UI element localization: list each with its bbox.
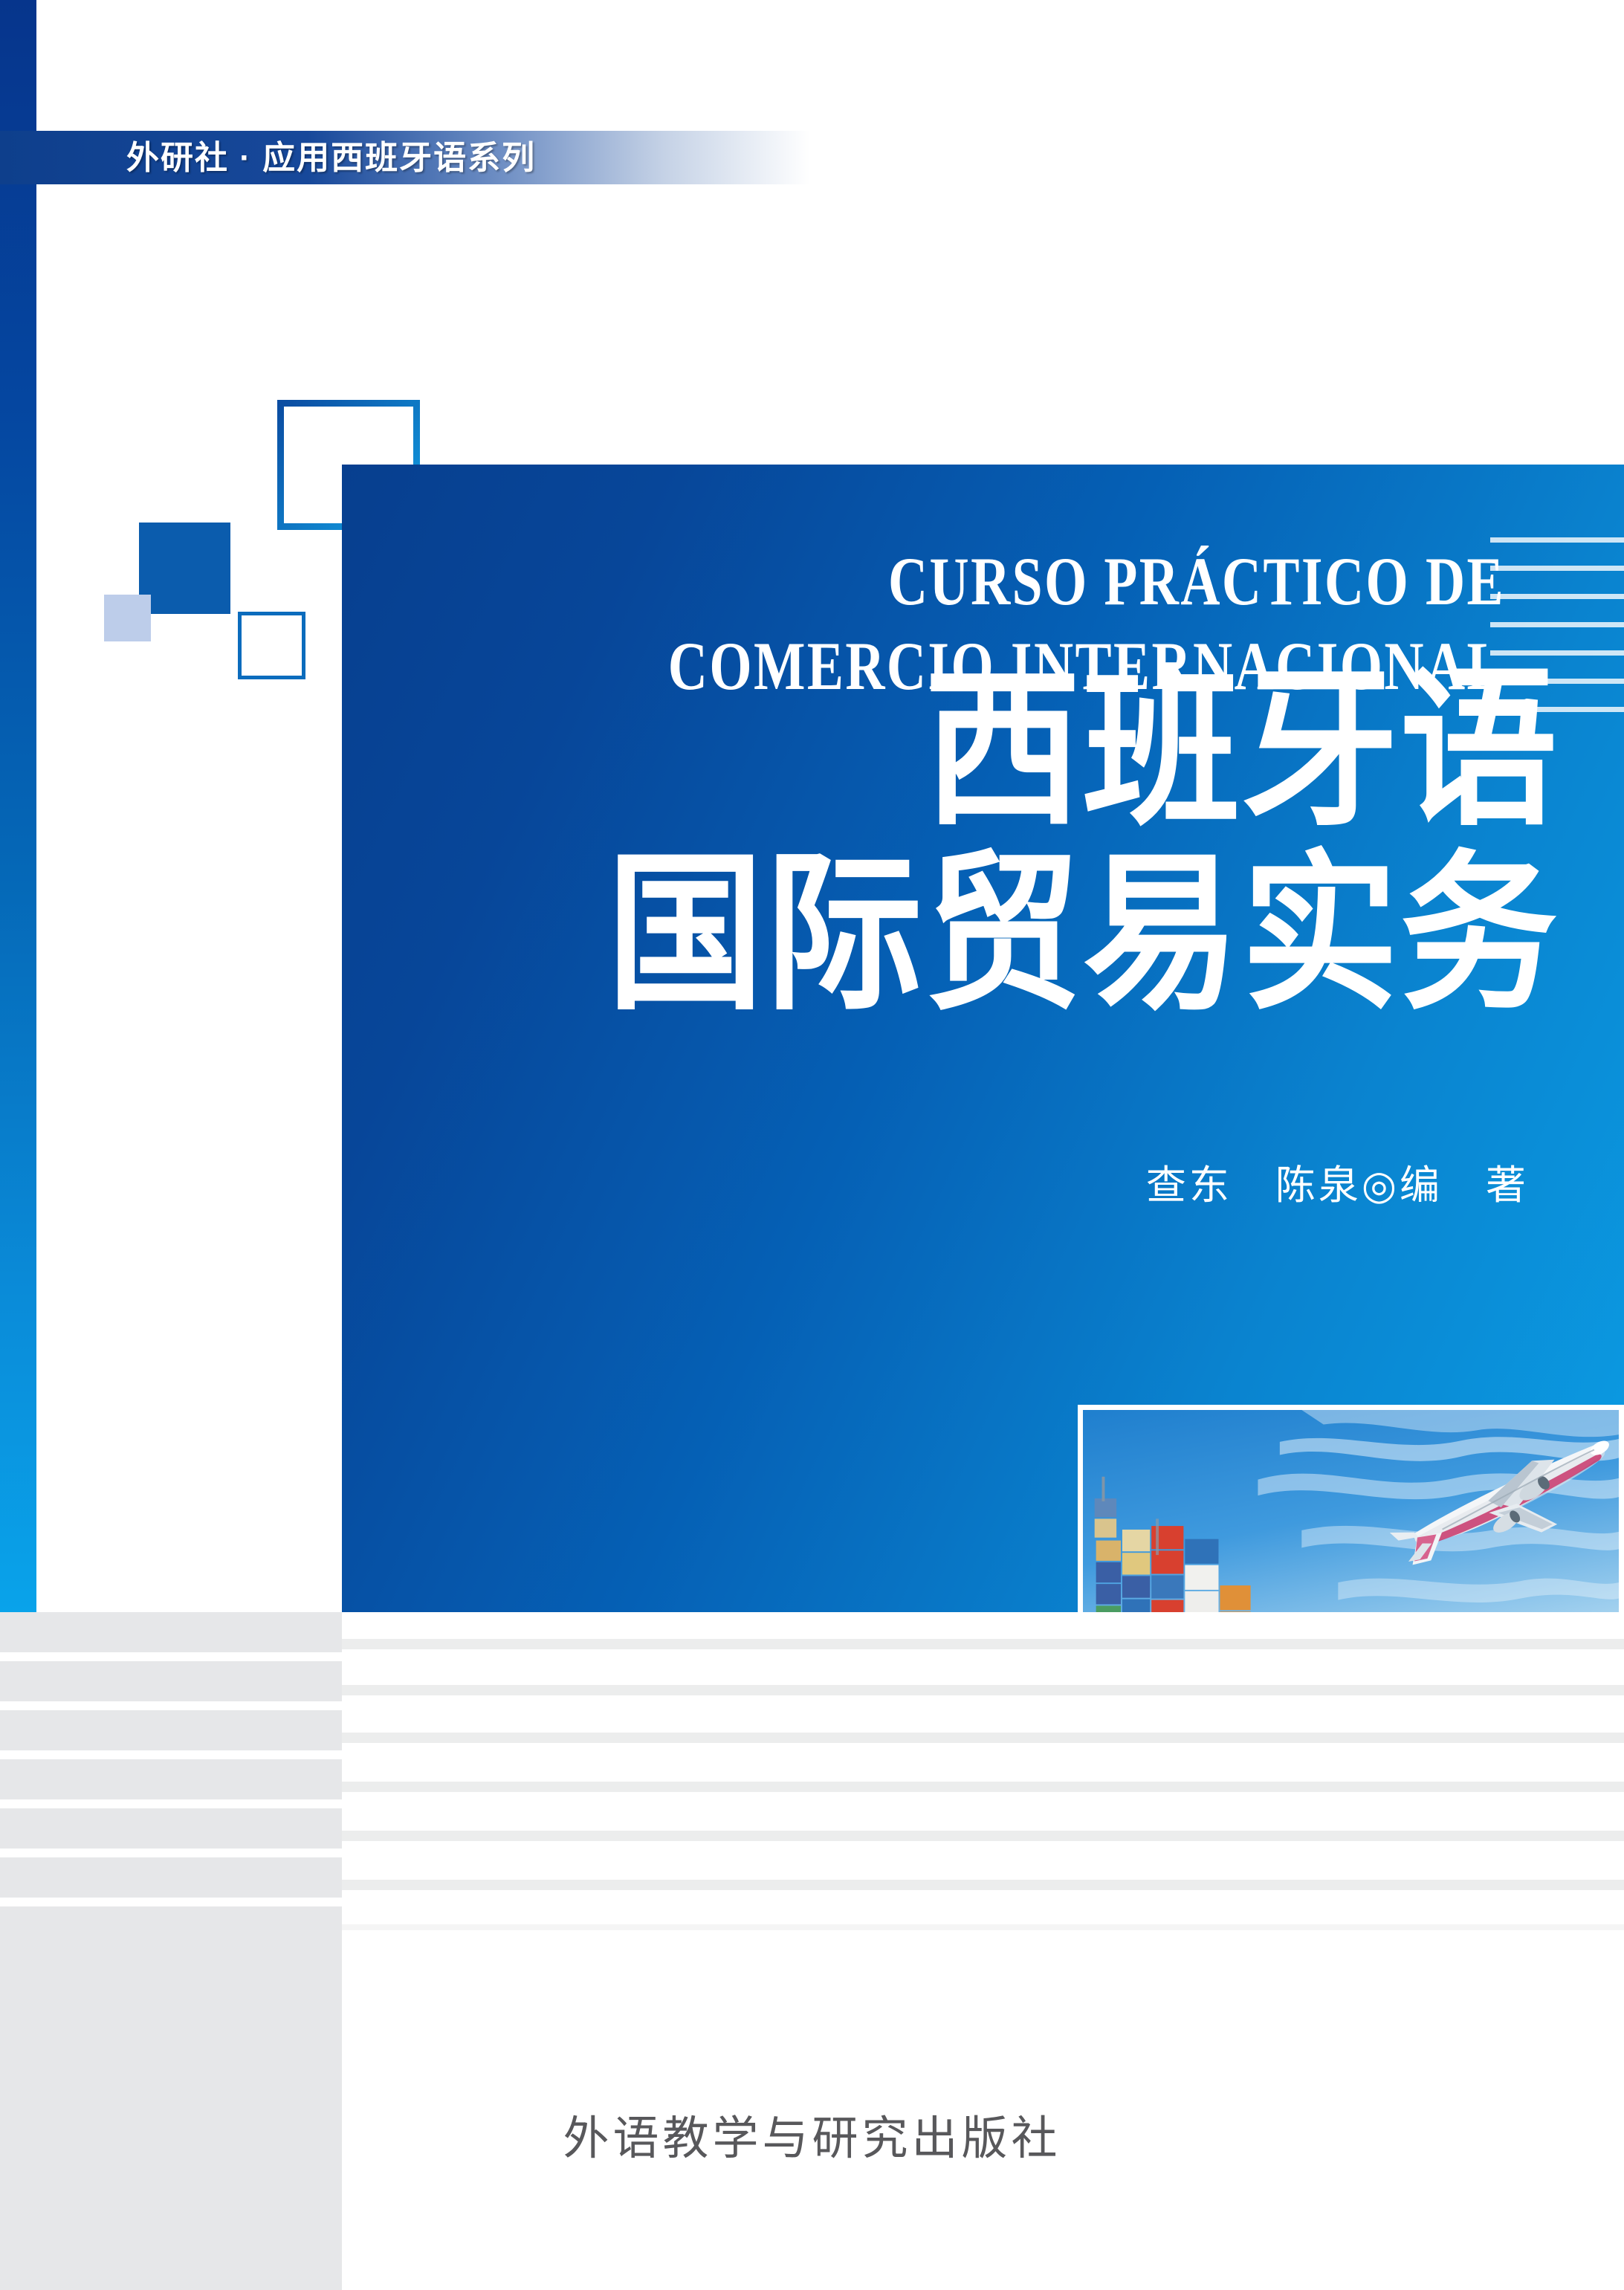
stripe-left xyxy=(0,1759,342,1799)
stripe-left xyxy=(0,1710,342,1750)
stripe-right xyxy=(342,1880,1624,1890)
stripe-right xyxy=(342,1782,1624,1792)
left-spine-gradient-bar xyxy=(0,0,36,1612)
authors-line: 查东 陈泉◎编 著 xyxy=(1146,1152,1529,1211)
stripe-right xyxy=(342,1924,1624,1930)
rule-line xyxy=(1490,566,1624,571)
bottom-stripe-band xyxy=(0,1612,1624,2290)
stripe-right xyxy=(342,1831,1624,1841)
series-banner-label: 外研社 · 应用西班牙语系列 xyxy=(126,135,536,181)
stripe-left xyxy=(0,1857,342,1898)
stripe-left xyxy=(0,1612,342,1652)
chinese-title-line-2: 国际贸易实务 xyxy=(439,842,1559,1026)
chinese-title: 西班牙语 国际贸易实务 xyxy=(439,658,1559,1026)
spanish-title-line-1: CURSO PRÁCTICO DE xyxy=(575,539,1505,624)
publisher-name: 外语教学与研究出版社 xyxy=(0,2100,1624,2167)
decorative-square-pale-small xyxy=(104,595,151,641)
rule-line xyxy=(1490,537,1624,543)
stripe-right xyxy=(342,1639,1624,1649)
rule-line xyxy=(1490,622,1624,627)
book-cover: 外研社 · 应用西班牙语系列 CURSO PRÁCTICO DE COMERCI… xyxy=(0,0,1624,2290)
stripe-right xyxy=(342,1733,1624,1743)
decorative-square-outline-small xyxy=(238,612,305,679)
rule-line xyxy=(1490,594,1624,599)
stripe-left-block xyxy=(0,1906,342,2290)
stripe-right xyxy=(342,1685,1624,1695)
chinese-title-line-1: 西班牙语 xyxy=(439,658,1559,842)
decorative-square-solid-medium xyxy=(139,523,230,614)
stripe-left xyxy=(0,1661,342,1701)
stripe-left xyxy=(0,1808,342,1849)
